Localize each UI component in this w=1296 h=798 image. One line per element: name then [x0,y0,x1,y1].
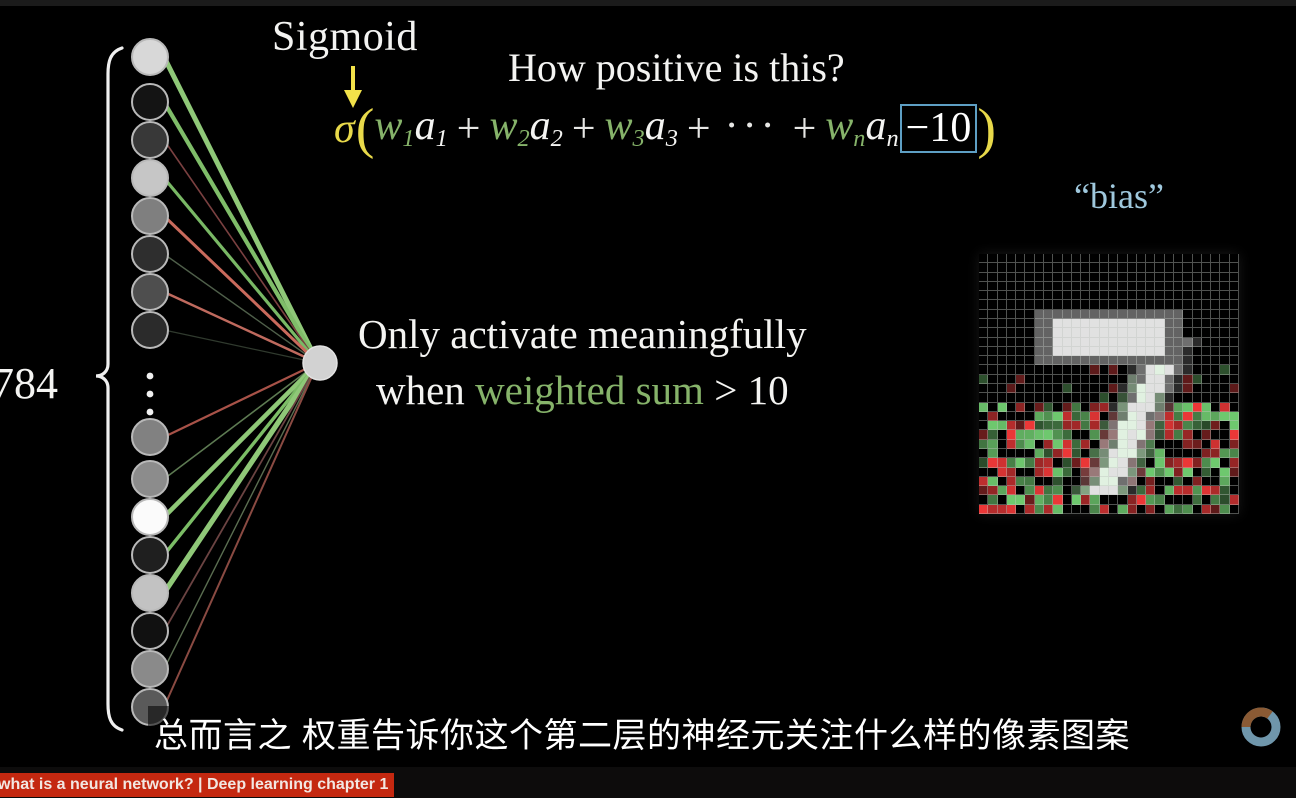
input-neuron [132,499,168,535]
pixel-cell [1230,273,1239,282]
pixel-cell [1165,468,1174,477]
pixel-cell [1035,328,1044,337]
weighted-sum-emphasis: weighted sum [475,367,704,413]
pixel-cell [1035,300,1044,309]
pixel-cell [1090,477,1099,486]
connection-line [164,102,318,363]
pixel-cell [1230,328,1239,337]
pixel-cell [1109,495,1118,504]
pixel-cell [1016,291,1025,300]
pixel-cell [1220,440,1229,449]
pixel-cell [1016,477,1025,486]
pixel-cell [1063,486,1072,495]
pixel-cell [1007,282,1016,291]
pixel-cell [1137,356,1146,365]
pixel-cell [1044,319,1053,328]
pixel-cell [1230,486,1239,495]
pixel-cell [1035,430,1044,439]
pixel-cell [1193,365,1202,374]
pixel-cell [1109,421,1118,430]
connection-line [164,57,318,363]
pixel-cell [1044,505,1053,514]
pixel-cell [1081,273,1090,282]
pixel-cell [1100,505,1109,514]
pixel-cell [1183,365,1192,374]
pixel-cell [1193,347,1202,356]
pixel-cell [1118,319,1127,328]
pixel-cell [1155,375,1164,384]
pixel-cell [1109,263,1118,272]
pixel-cell [998,263,1007,272]
pixel-cell [1220,449,1229,458]
pixel-cell [1044,347,1053,356]
pixel-cell [1025,421,1034,430]
input-neuron [132,236,168,272]
pixel-cell [1137,310,1146,319]
pixel-cell [998,477,1007,486]
pixel-cell [1109,486,1118,495]
pixel-cell [1220,486,1229,495]
pixel-cell [1090,254,1099,263]
pixel-cell [1035,403,1044,412]
pixel-cell [1109,468,1118,477]
pixel-cell [1007,412,1016,421]
pixel-cell [1063,375,1072,384]
pixel-cell [1044,421,1053,430]
pixel-cell [1072,328,1081,337]
pixel-cell [1128,338,1137,347]
pixel-cell [1072,375,1081,384]
pixel-cell [1183,393,1192,402]
pixel-cell [1053,347,1062,356]
pixel-cell [1202,338,1211,347]
sigmoid-label: Sigmoid [272,16,418,58]
pixel-cell [1183,319,1192,328]
pixel-cell [1155,449,1164,458]
input-neuron-column [132,39,168,725]
pixel-cell [1165,273,1174,282]
pixel-cell [1128,365,1137,374]
pixel-cell [1044,477,1053,486]
pixel-cell [1183,403,1192,412]
pixel-cell [1025,393,1034,402]
pixel-cell [1211,356,1220,365]
pixel-cell [1128,254,1137,263]
pixel-cell [1137,495,1146,504]
pixel-cell [1146,477,1155,486]
pixel-cell [998,356,1007,365]
pixel-cell [1081,412,1090,421]
pixel-cell [1128,430,1137,439]
pixel-cell [1081,393,1090,402]
input-neuron [132,160,168,196]
pixel-cell [1128,356,1137,365]
pixel-cell [1035,263,1044,272]
pixel-cell [988,254,997,263]
pixel-cell [988,430,997,439]
pixel-cell [1072,338,1081,347]
pixel-cell [1025,282,1034,291]
pixel-cell [1118,263,1127,272]
pixel-cell [1137,338,1146,347]
pixel-cell [1146,393,1155,402]
pixel-cell [1109,430,1118,439]
pixel-cell [1109,505,1118,514]
pixel-cell [1193,375,1202,384]
pixel-cell [1183,338,1192,347]
pixel-cell [1109,300,1118,309]
pixel-cell [1137,263,1146,272]
pixel-cell [1202,495,1211,504]
pixel-cell [1183,300,1192,309]
pixel-cell [1220,477,1229,486]
pixel-cell [1174,421,1183,430]
pixel-cell [1146,505,1155,514]
video-canvas[interactable]: Sigmoid How positive is this? σ ( w1a1 +… [0,6,1296,767]
pixel-cell [1211,328,1220,337]
pixel-cell [979,291,988,300]
pixel-cell [1053,328,1062,337]
input-neuron [132,312,168,348]
pixel-cell [1211,403,1220,412]
pixel-cell [1174,365,1183,374]
pixel-cell [1109,254,1118,263]
plus-1: + [448,108,490,150]
pixel-cell [988,365,997,374]
pixel-cell [1063,300,1072,309]
pixel-cell [1183,468,1192,477]
pixel-cell [1174,273,1183,282]
pixel-cell [1211,291,1220,300]
pixel-cell [979,319,988,328]
pixel-cell [1081,263,1090,272]
pixel-cell [1165,319,1174,328]
pixel-cell [1146,347,1155,356]
pixel-cell [1230,458,1239,467]
pixel-cell [1202,458,1211,467]
pixel-cell [1063,440,1072,449]
pixel-cell [1146,403,1155,412]
pixel-cell [1072,319,1081,328]
pixel-cell [1220,328,1229,337]
video-title-chip[interactable]: what is a neural network? | Deep learnin… [0,773,394,797]
pixel-cell [979,486,988,495]
pixel-cell [1202,347,1211,356]
pixel-cell [1118,421,1127,430]
pixel-cell [1118,412,1127,421]
video-player-frame: Sigmoid How positive is this? σ ( w1a1 +… [0,0,1296,798]
pixel-cell [1025,328,1034,337]
pixel-cell [1118,477,1127,486]
explanation-line-1: Only activate meaningfully [358,314,807,355]
plus-4: + [784,108,826,150]
pixel-cell [1044,338,1053,347]
pixel-cell [1193,449,1202,458]
explanation-line-2: when weighted sum > 10 [376,370,789,411]
pixel-cell [998,300,1007,309]
connection-lines [164,57,318,707]
pixel-cell [1155,347,1164,356]
pixel-cell [998,486,1007,495]
pixel-cell [988,328,997,337]
pixel-cell [1146,300,1155,309]
pixel-cell [1044,300,1053,309]
pixel-cell [1100,300,1109,309]
pixel-cell [1193,468,1202,477]
pixel-cell [988,300,997,309]
pixel-cell [1211,300,1220,309]
pixel-cell [1053,310,1062,319]
pixel-cell [998,375,1007,384]
pixel-cell [1174,319,1183,328]
pixel-cell [1044,273,1053,282]
pixel-cell [998,347,1007,356]
pixel-cell [1109,356,1118,365]
pixel-cell [1183,458,1192,467]
pixel-cell [1220,393,1229,402]
pixel-cell [988,403,997,412]
input-count-brace [96,48,122,730]
pixel-cell [979,440,988,449]
pixel-cell [1220,291,1229,300]
pixel-cell [1109,347,1118,356]
input-neuron [132,122,168,158]
pixel-cell [1044,328,1053,337]
pixel-cell [1137,458,1146,467]
pixel-cell [1183,486,1192,495]
pixel-cell [1016,468,1025,477]
pixel-cell [1193,421,1202,430]
pixel-cell [1155,291,1164,300]
pixel-cell [1230,440,1239,449]
connection-line [164,363,318,593]
pixel-cell [1063,310,1072,319]
pixel-cell [1025,375,1034,384]
pixel-cell [1035,412,1044,421]
pixel-cell [1230,412,1239,421]
pixel-cell [1146,449,1155,458]
pixel-cell [1220,430,1229,439]
pixel-cell [1230,319,1239,328]
pixel-cell [1220,319,1229,328]
pixel-cell [1146,365,1155,374]
pixel-cell [998,449,1007,458]
pixel-cell [1007,319,1016,328]
pixel-cell [1165,421,1174,430]
pixel-cell [1035,477,1044,486]
pixel-cell [1090,328,1099,337]
input-neuron [132,575,168,611]
pixel-cell [1118,505,1127,514]
pixel-cell [1128,310,1137,319]
weight-pattern-panel [979,254,1239,514]
pixel-cell [1128,486,1137,495]
term-1: w1a1 [374,105,447,151]
pixel-cell [1155,356,1164,365]
pixel-cell [1118,365,1127,374]
pixel-cell [1025,505,1034,514]
output-neuron-circle [303,346,337,380]
pixel-cell [1118,430,1127,439]
pixel-cell [1202,300,1211,309]
pixel-cell [988,495,997,504]
pixel-cell [1109,440,1118,449]
pixel-cell [1146,282,1155,291]
pixel-cell [1155,384,1164,393]
pixel-cell [1007,254,1016,263]
pixel-cell [1053,365,1062,374]
pixel-cell [1007,449,1016,458]
pixel-cell [1016,412,1025,421]
pixel-cell [1090,495,1099,504]
pixel-cell [1230,430,1239,439]
pixel-cell [1202,403,1211,412]
sigma-symbol: σ [334,108,356,150]
pixel-cell [1007,300,1016,309]
connection-line [164,216,318,363]
pixel-cell [1109,375,1118,384]
pixel-cell [1230,393,1239,402]
input-count-label: 784 [0,362,58,406]
pixel-cell [1016,393,1025,402]
pixel-cell [1081,375,1090,384]
pixel-cell [1072,403,1081,412]
pixel-cell [1128,319,1137,328]
pixel-cell [1193,477,1202,486]
pixel-cell [1007,338,1016,347]
pixel-cell [1081,449,1090,458]
pixel-cell [1202,449,1211,458]
pixel-cell [1035,495,1044,504]
pixel-cell [1211,477,1220,486]
pixel-cell [1053,449,1062,458]
pixel-cell [998,291,1007,300]
pixel-cell [1211,347,1220,356]
pixel-cell [1193,328,1202,337]
pixel-cell [979,449,988,458]
pixel-cell [1174,393,1183,402]
pixel-cell [1035,347,1044,356]
pixel-cell [1193,486,1202,495]
pixel-cell [1165,486,1174,495]
pixel-cell [1044,254,1053,263]
pixel-cell [979,263,988,272]
pixel-cell [1090,356,1099,365]
pixel-cell [1016,300,1025,309]
pixel-cell [1090,384,1099,393]
pixel-cell [1044,263,1053,272]
pixel-cell [1146,375,1155,384]
pixel-cell [1174,486,1183,495]
pixel-cell [1090,449,1099,458]
pixel-cell [1220,273,1229,282]
pixel-cell [1146,495,1155,504]
pixel-cell [1230,365,1239,374]
pixel-cell [1053,393,1062,402]
pixel-cell [979,310,988,319]
pixel-cell [1118,393,1127,402]
pixel-cell [1100,486,1109,495]
pixel-cell [1025,263,1034,272]
pixel-cell [1202,412,1211,421]
subtitle-text: 总而言之 权重告诉你这个第二层的神经元关注什么样的像素图案 [148,706,1136,759]
pixel-cell [1220,505,1229,514]
pixel-cell [1137,505,1146,514]
pixel-cell [1230,282,1239,291]
pixel-cell [1128,421,1137,430]
pixel-cell [1202,486,1211,495]
pixel-cell [1165,458,1174,467]
pixel-cell [1016,365,1025,374]
pixel-cell [1230,291,1239,300]
pixel-cell [1137,291,1146,300]
pixel-cell [979,273,988,282]
pixel-cell [1063,430,1072,439]
output-neuron [303,346,337,380]
pixel-cell [1063,384,1072,393]
pixel-cell [1118,300,1127,309]
pixel-cell [1100,291,1109,300]
pixel-cell [1016,347,1025,356]
pixel-cell [1100,356,1109,365]
pixel-cell [1183,412,1192,421]
pixel-cell [1072,310,1081,319]
pixel-cell [1025,412,1034,421]
pixel-cell [998,328,1007,337]
pixel-cell [1193,440,1202,449]
pixel-cell [1118,338,1127,347]
pixel-cell [1202,430,1211,439]
pixel-cell [1220,375,1229,384]
pixel-cell [1100,254,1109,263]
pixel-cell [1220,300,1229,309]
pixel-cell [1174,254,1183,263]
pixel-cell [1220,365,1229,374]
pixel-cell [1128,505,1137,514]
pixel-cell [1063,291,1072,300]
pixel-cell [1025,365,1034,374]
pixel-cell [1044,291,1053,300]
pixel-cell [1220,403,1229,412]
pixel-cell [979,282,988,291]
pixel-cell [1109,477,1118,486]
pixel-cell [1100,365,1109,374]
pixel-cell [1193,319,1202,328]
pixel-cell [1211,338,1220,347]
pixel-cell [1044,430,1053,439]
pixel-cell [1146,319,1155,328]
pixel-cell [1193,282,1202,291]
pixel-cell [1090,338,1099,347]
pixel-cell [1118,347,1127,356]
pixel-cell [1081,440,1090,449]
pixel-cell [1100,273,1109,282]
pixel-cell [1072,449,1081,458]
pixel-cell [979,300,988,309]
pixel-cell [979,254,988,263]
pixel-cell [1081,300,1090,309]
pixel-cell [1202,477,1211,486]
pixel-cell [1072,273,1081,282]
pixel-cell [1025,384,1034,393]
pixel-cell [1063,458,1072,467]
pixel-cell [1146,291,1155,300]
pixel-cell [1090,310,1099,319]
pixel-cell [1053,263,1062,272]
pixel-cell [1025,458,1034,467]
pixel-cell [1053,300,1062,309]
pixel-grid [979,254,1239,514]
